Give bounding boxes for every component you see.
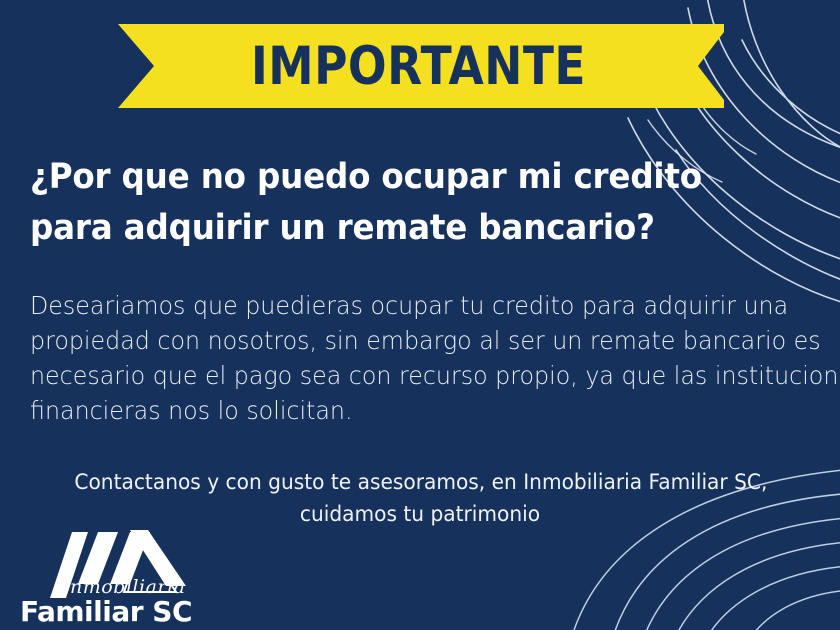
poster-canvas: IMPORTANTE ¿Por que no puedo ocupar mi c… xyxy=(0,0,840,630)
body-line-4: financieras nos lo solicitan. xyxy=(30,393,775,428)
body-line-1-text: Deseariamos que puedieras ocupar tu cred… xyxy=(30,288,788,323)
headline: ¿Por que no puedo ocupar mi credito para… xyxy=(30,152,681,254)
logo-name-text: Familiar SC xyxy=(20,598,192,626)
headline-line-1: ¿Por que no puedo ocupar mi credito xyxy=(30,152,681,203)
headline-line-2: para adquirir un remate bancario? xyxy=(30,203,681,254)
body-line-3: necesario que el pago sea con recurso pr… xyxy=(30,358,775,393)
body-line-2: propiedad con nosotros, sin embargo al s… xyxy=(30,323,775,358)
contact-line-1: Contactanos y con gusto te asesoramos, e… xyxy=(74,466,765,498)
body-line-1: Deseariamos que puedieras ocupar tu cred… xyxy=(30,288,775,323)
body-paragraph: Deseariamos que puedieras ocupar tu cred… xyxy=(30,288,775,428)
banner-ribbon: IMPORTANTE xyxy=(118,24,724,108)
contact-message: Contactanos y con gusto te asesoramos, e… xyxy=(74,466,765,530)
banner-title: IMPORTANTE xyxy=(160,24,681,108)
logo: Inmobiliaria Familiar SC xyxy=(18,522,218,626)
body-line-3-text: necesario que el pago sea con recurso pr… xyxy=(30,358,840,393)
body-line-2-text: propiedad con nosotros, sin embargo al s… xyxy=(30,323,821,358)
